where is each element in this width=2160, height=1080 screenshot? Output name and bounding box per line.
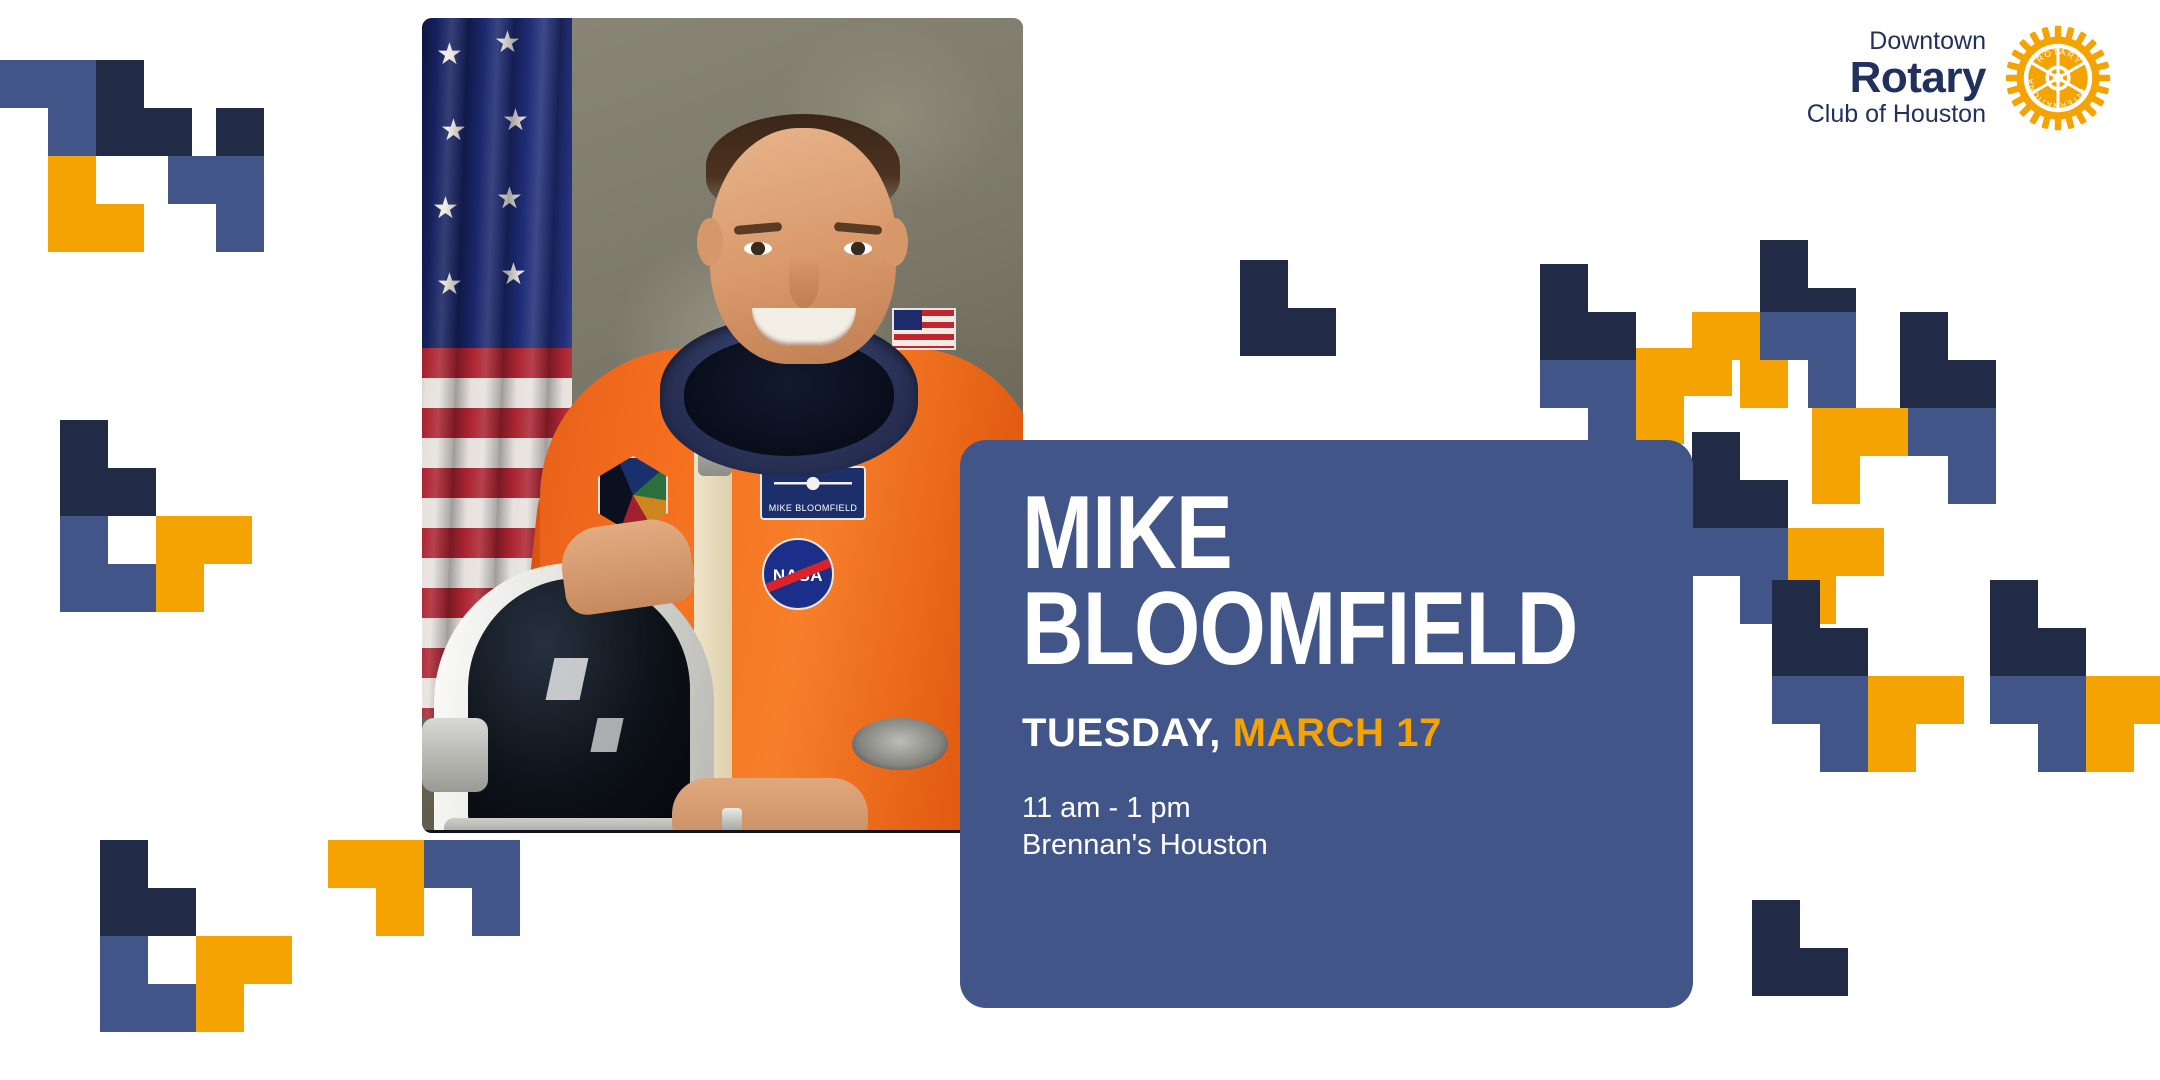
tetromino-block [1900,312,1996,408]
rotary-logo-text: Downtown Rotary Club of Houston [1807,28,1986,128]
name-tag-text: MIKE BLOOMFIELD [762,503,864,513]
tetromino-bar [1692,528,1788,576]
tetromino-block [100,840,196,936]
tetromino-stub [48,108,96,156]
tetromino-bar [156,516,204,612]
tetromino-block [1868,676,1964,772]
event-info-panel: MIKE BLOOMFIELD TUESDAY, MARCH 17 11 am … [960,440,1693,1008]
tetromino-bar [1990,676,2086,724]
tetromino-block [1240,260,1336,356]
tetromino-bar [60,564,156,612]
poster-canvas: ★ ★ ★ ★ ★ ★ ★ ★ MIKE BLOOMFIELD NASA [0,0,2160,1080]
tetromino-bar [1240,308,1336,356]
tetromino-bar [1868,676,1916,772]
tetromino-bar [1760,312,1856,360]
tetromino-stub [100,936,148,984]
event-time: 11 am - 1 pm [1022,790,1693,827]
tetromino-block [168,156,264,252]
right-eye [844,242,872,255]
tetromino-stub [60,516,108,564]
tetromino-stub [1240,260,1288,308]
tetromino-block [156,516,252,612]
tetromino-bar [1772,628,1868,676]
tetromino-bar [1540,360,1636,408]
tetromino-bar [0,60,96,108]
event-date: TUESDAY, MARCH 17 [1022,711,1693,756]
tetromino-stub [1772,580,1820,628]
tetromino-stub [1860,408,1908,456]
tetromino-stub [1760,240,1808,288]
tetromino-block [1900,408,1996,504]
tetromino-stub [216,204,264,252]
tetromino-stub [2038,724,2086,772]
tetromino-stub [1836,528,1884,576]
tetromino-bar [1540,312,1636,360]
speaker-first-name: MIKE [1022,486,1572,582]
tetromino-block [0,60,96,156]
tetromino-stub [376,888,424,936]
tetromino-bar [1900,360,1996,408]
tetromino-block [2086,676,2160,772]
tetromino-block [328,840,424,936]
nose [789,256,819,308]
tetromino-block [60,420,156,516]
logo-line-rotary: Rotary [1807,55,1986,102]
tetromino-bar [196,936,244,1032]
tetromino-stub [100,840,148,888]
tetromino-block [1990,580,2086,676]
logo-line-club: Club of Houston [1807,101,1986,128]
tetromino-stub [96,60,144,108]
tetromino-block [1540,264,1636,360]
event-weekday: TUESDAY, [1022,711,1221,755]
tetromino-stub [1990,580,2038,628]
tetromino-block [48,156,144,252]
speaker-name: MIKE BLOOMFIELD [1022,486,1572,677]
tetromino-stub [204,516,252,564]
left-eye [744,242,772,255]
right-hand [672,778,868,833]
tetromino-bar [2086,676,2134,772]
tetromino-stub [48,156,96,204]
tetromino-block [1692,432,1788,528]
tetromino-bar [1900,408,1996,456]
tetromino-bar [48,204,144,252]
tetromino-block [1752,900,1848,996]
suit-wrist-ring [852,718,948,770]
helmet-visor [468,578,690,830]
tetromino-stub [472,888,520,936]
tetromino-bar [328,840,424,888]
left-ear [697,218,723,266]
tetromino-bar [168,156,264,204]
pilot-wings-icon [774,475,852,492]
tetromino-block [1990,676,2086,772]
tetromino-bar [1990,628,2086,676]
tetromino-stub [60,420,108,468]
tetromino-stub [1692,432,1740,480]
tetromino-block [1760,312,1856,408]
tetromino-block [60,516,156,612]
tetromino-stub [1900,312,1948,360]
tetromino-stub [1752,900,1800,948]
rotary-logo: Downtown Rotary Club of Houston ROTARY [1807,24,2112,132]
tetromino-stub [1540,264,1588,312]
tetromino-bar [60,468,156,516]
tetromino-block [196,936,292,1032]
tetromino-bar [100,888,196,936]
rotary-gear-wheel-icon: ROTARY INTERNATIONAL [2004,24,2112,132]
tetromino-block [1812,408,1908,504]
tetromino-bar [1692,480,1788,528]
speaker-portrait: ★ ★ ★ ★ ★ ★ ★ ★ MIKE BLOOMFIELD NASA [422,18,1023,833]
right-ear [882,218,908,266]
tetromino-block [1772,580,1868,676]
tetromino-stub [1808,360,1856,408]
tetromino-block [100,936,196,1032]
tetromino-stub [1948,456,1996,504]
tetromino-stub [1820,724,1868,772]
helmet-latch [422,718,488,792]
tetromino-bar [1636,348,1684,444]
nasa-meatball-icon: NASA [762,538,834,610]
tetromino-bar [100,984,196,1032]
tetromino-bar [424,840,520,888]
logo-line-downtown: Downtown [1807,28,1986,55]
table-surface [422,830,1023,833]
event-venue: Brennan's Houston [1022,827,1693,864]
tetromino-bar [1772,676,1868,724]
shoulder-flag-patch-icon [892,308,956,350]
event-month-day: MARCH 17 [1233,711,1442,755]
tetromino-stub [244,936,292,984]
tetromino-stub [1916,676,1964,724]
tetromino-bar [1812,408,1860,504]
tetromino-bar [1752,948,1848,996]
tetromino-block [424,840,520,936]
speaker-last-name: BLOOMFIELD [1022,582,1572,678]
tetromino-stub [2134,676,2160,724]
tetromino-block [1772,676,1868,772]
